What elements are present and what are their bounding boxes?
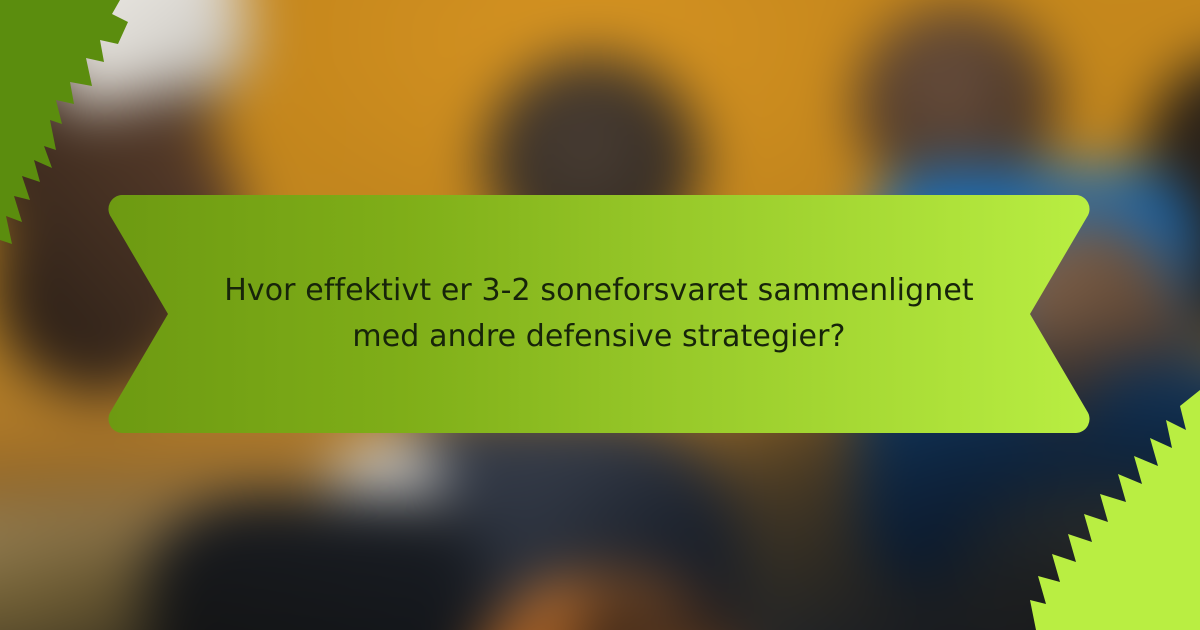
poster-canvas: Hvor effektivt er 3-2 soneforsvaret samm… bbox=[0, 0, 1200, 630]
ribbon-text-block: Hvor effektivt er 3-2 soneforsvaret samm… bbox=[108, 195, 1090, 433]
question-ribbon: Hvor effektivt er 3-2 soneforsvaret samm… bbox=[108, 195, 1090, 433]
shadow-bottom-left bbox=[0, 445, 486, 630]
question-line-2: med andre defensive strategier? bbox=[352, 314, 845, 360]
question-line-1: Hvor effektivt er 3-2 soneforsvaret samm… bbox=[224, 268, 974, 314]
